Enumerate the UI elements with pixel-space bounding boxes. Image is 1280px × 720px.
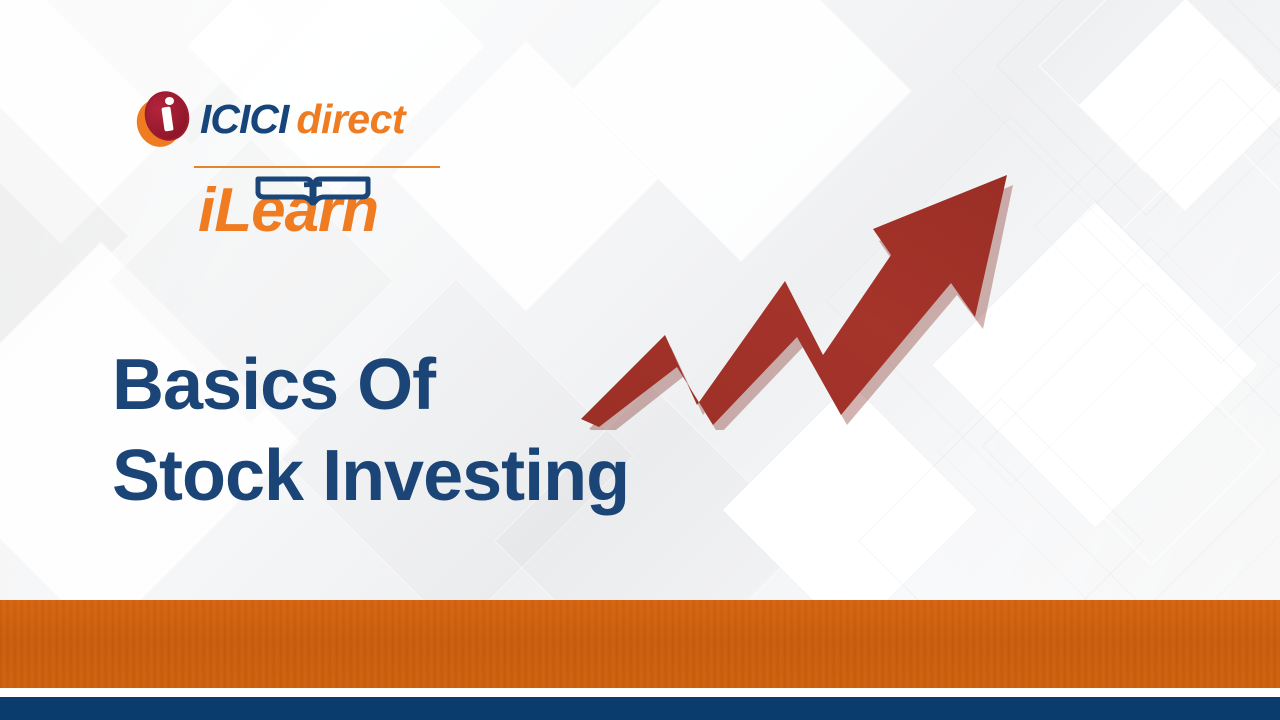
logo-divider-rule bbox=[194, 166, 440, 168]
icici-direct-lockup: ICICIdirect bbox=[136, 88, 405, 150]
icici-direct-wordmark: ICICIdirect bbox=[200, 99, 405, 140]
footer-navy-band bbox=[0, 697, 1280, 720]
ilearn-lockup: iLearn bbox=[198, 170, 468, 260]
wordmark-direct: direct bbox=[296, 96, 405, 142]
emblem-i-dot bbox=[165, 97, 174, 105]
brand-logo: ICICIdirect iLearn bbox=[136, 88, 466, 258]
open-book-icon bbox=[254, 173, 372, 209]
title-line-2: Stock Investing bbox=[112, 431, 872, 522]
footer-orange-band bbox=[0, 600, 1280, 688]
page-title: Basics Of Stock Investing bbox=[112, 340, 872, 523]
icici-i-emblem-icon bbox=[136, 89, 194, 149]
footer-white-gap bbox=[0, 688, 1280, 697]
title-line-1: Basics Of bbox=[112, 340, 872, 431]
wordmark-icici: ICICI bbox=[200, 96, 288, 142]
title-slide: ICICIdirect iLearn Basics Of bbox=[0, 0, 1280, 720]
